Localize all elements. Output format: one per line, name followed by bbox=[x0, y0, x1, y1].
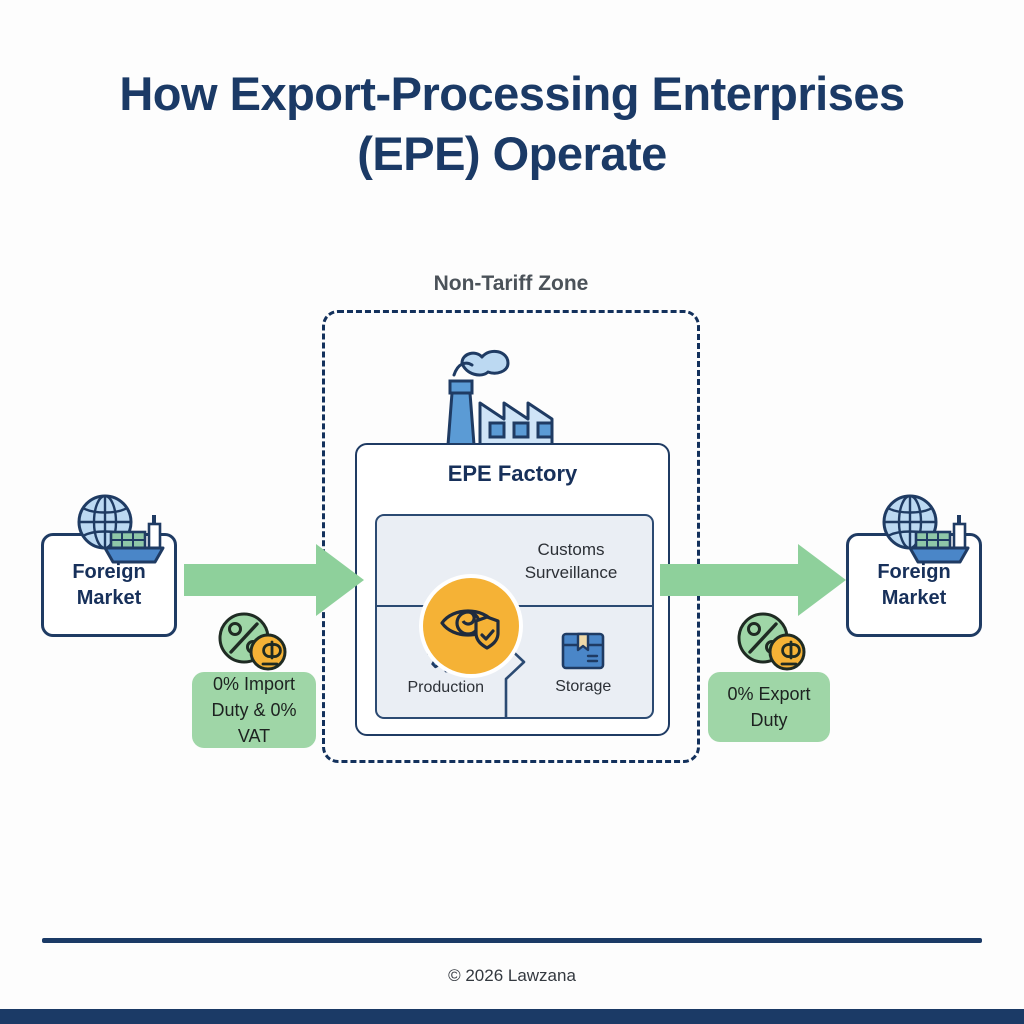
export-duty-badge-text: 0% Export Duty bbox=[727, 681, 810, 733]
customs-surveillance-label: Customs Surveillance bbox=[496, 538, 646, 584]
globe-ship-icon bbox=[868, 492, 976, 570]
customs-surveillance-badge bbox=[423, 578, 519, 674]
flow-arrow-left bbox=[184, 540, 364, 620]
page-title-line1: How Export-Processing Enterprises bbox=[119, 67, 904, 120]
copyright-text: © 2026 Lawzana bbox=[0, 966, 1024, 986]
percent-dong-coin-icon bbox=[214, 612, 290, 672]
epe-factory-inner-panel: Customs Surveillance Production bbox=[375, 514, 654, 719]
factory-icon bbox=[432, 335, 590, 455]
bottom-bar bbox=[0, 1009, 1024, 1024]
market-right-line2: Market bbox=[882, 587, 946, 609]
export-badge-line2: Duty bbox=[750, 710, 787, 730]
page-title-line2: (EPE) Operate bbox=[0, 124, 1024, 184]
import-duty-badge: 0% Import Duty & 0% VAT bbox=[192, 672, 316, 748]
foreign-market-right: Foreign Market bbox=[846, 533, 982, 637]
package-box-icon bbox=[559, 630, 607, 674]
epe-factory-title: EPE Factory bbox=[357, 461, 668, 487]
import-badge-line1: 0% Import bbox=[213, 674, 295, 694]
customs-label-line2: Surveillance bbox=[525, 563, 618, 582]
foreign-market-left: Foreign Market bbox=[41, 533, 177, 637]
globe-ship-icon bbox=[63, 492, 171, 570]
footer-divider bbox=[42, 938, 982, 943]
eye-shield-icon bbox=[439, 599, 503, 653]
epe-factory-card: EPE Factory Customs Surveillance Product… bbox=[355, 443, 670, 736]
import-badge-line3: VAT bbox=[238, 726, 270, 746]
import-badge-line2: Duty & 0% bbox=[211, 700, 296, 720]
customs-surveillance-row: Customs Surveillance bbox=[377, 516, 652, 607]
production-label: Production bbox=[408, 679, 485, 697]
page-title: How Export-Processing Enterprises (EPE) … bbox=[0, 64, 1024, 184]
infographic-canvas: How Export-Processing Enterprises (EPE) … bbox=[0, 0, 1024, 1024]
export-badge-line1: 0% Export bbox=[727, 684, 810, 704]
storage-cell: Storage bbox=[515, 607, 653, 718]
market-left-line2: Market bbox=[77, 587, 141, 609]
percent-dong-coin-icon bbox=[733, 612, 809, 672]
flow-arrow-right bbox=[660, 540, 846, 620]
export-duty-badge: 0% Export Duty bbox=[708, 672, 830, 742]
import-duty-badge-text: 0% Import Duty & 0% VAT bbox=[211, 671, 296, 749]
non-tariff-zone-label: Non-Tariff Zone bbox=[322, 272, 700, 296]
storage-label: Storage bbox=[555, 678, 611, 696]
customs-label-line1: Customs bbox=[537, 540, 604, 559]
